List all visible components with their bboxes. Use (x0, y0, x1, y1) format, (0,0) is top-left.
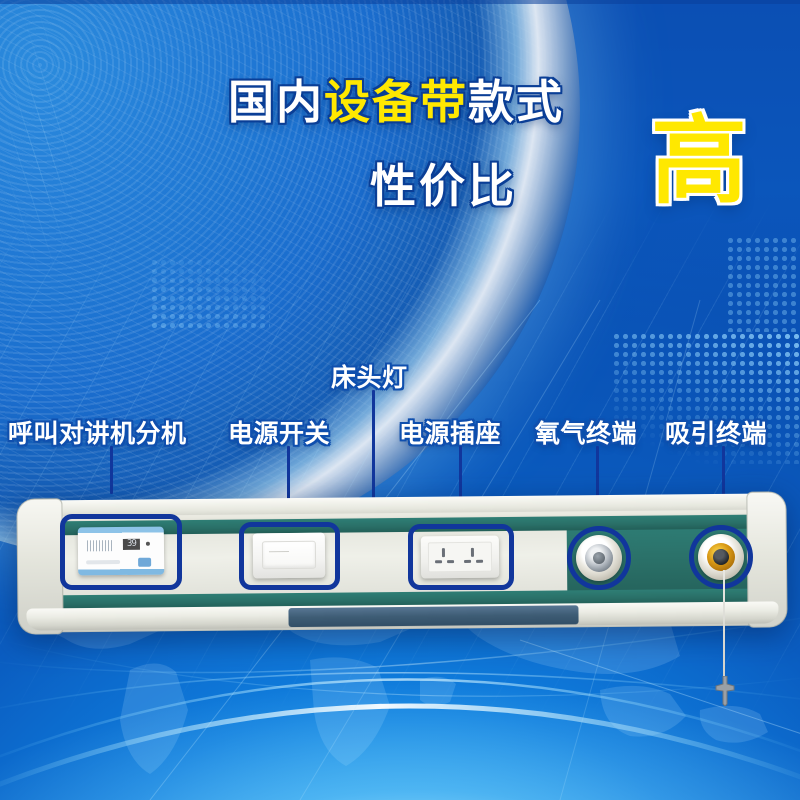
highlight-box-intercom (60, 514, 182, 590)
highlight-box-power-socket (408, 524, 514, 590)
pull-cord-hook-icon (714, 676, 736, 706)
headline-part-style: 款式 (468, 76, 564, 128)
headline-line-2: 性价比 高 (0, 142, 800, 238)
leader-line-intercom (110, 446, 113, 494)
callout-bed-lamp: 床头灯 (331, 358, 408, 394)
halftone-dots-edge (726, 236, 800, 332)
callout-suction-terminal: 吸引终端 (665, 414, 767, 450)
top-edge-bar (0, 0, 800, 4)
panel-rail-dark-insert (288, 605, 578, 627)
headline-part-equipment-belt: 设备带 (324, 76, 468, 128)
callout-power-switch: 电源开关 (228, 414, 330, 450)
headline-block: 国内设备带款式 性价比 高 (0, 78, 800, 238)
highlight-circle-oxygen (567, 526, 631, 590)
headline-value-ratio: 性价比 (370, 150, 517, 216)
headline-high-char: 高 (651, 114, 747, 210)
highlight-circle-suction (689, 525, 753, 589)
callout-oxygen-terminal: 氧气终端 (535, 414, 637, 450)
poster-canvas: 国内设备带款式 性价比 高 呼叫对讲机分机 电源开关 床头灯 电源插座 氧气终端… (0, 0, 800, 800)
highlight-box-power-switch (239, 522, 340, 590)
halftone-dots-center (150, 258, 270, 330)
pull-cord (723, 570, 725, 688)
callout-intercom: 呼叫对讲机分机 (8, 414, 187, 450)
callout-power-socket: 电源插座 (399, 414, 501, 450)
headline-part-domestic: 国内 (228, 76, 324, 128)
